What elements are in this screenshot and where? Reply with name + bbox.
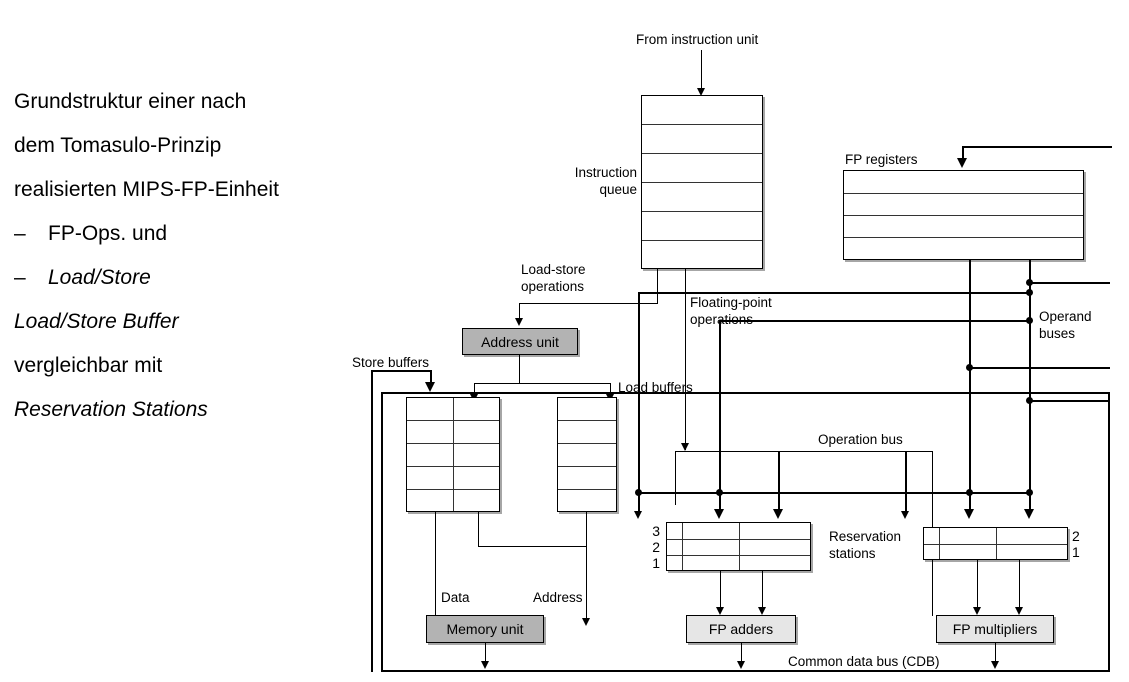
arrow-down-icon-fpmul-2 (1015, 607, 1023, 615)
arrow-down-icon-fpmultipliers-to-cdb (991, 661, 999, 669)
arrow-down-icon-fpadders-2 (758, 607, 766, 615)
arrow-down-icon-rs-mul-1 (901, 511, 909, 519)
wire-operand-right-1 (1029, 282, 1110, 284)
bullet-item-2-label: Load/Store (48, 266, 151, 289)
arrow-down-icon-fpadders-1 (716, 607, 724, 615)
from-instruction-unit-label: From instruction unit (636, 32, 758, 48)
fp-registers-box (843, 170, 1084, 260)
arrow-down-icon-rs-add-1 (634, 511, 642, 519)
arrow-down-icon-fpadders-to-cdb (737, 661, 745, 669)
slide-canvas: Grundstruktur einer nach dem Tomasulo-Pr… (0, 0, 1129, 682)
wire-instruction-unit-to-queue (701, 50, 702, 92)
reservation-stations-label-line2: stations (829, 546, 876, 562)
operand-buses-label-line2: buses (1039, 326, 1075, 342)
wire-rs-mul-in-1 (905, 451, 907, 515)
wire-rs-add-to-fpadders-1 (720, 571, 721, 611)
fp-registers-label: FP registers (845, 152, 918, 168)
address-unit-label: Address unit (481, 334, 559, 350)
text-line-3: realisierten MIPS-FP-Einheit (14, 168, 354, 212)
arrow-down-icon-store-buffer-data (425, 382, 435, 392)
text-line-2: dem Tomasulo-Prinzip (14, 124, 354, 168)
text-line-8: Reservation Stations (14, 388, 354, 432)
operand-bus-1 (638, 292, 1030, 294)
wire-rs-add-to-fpadders-2 (762, 571, 763, 611)
bullet-item-1-label: FP-Ops. und (48, 222, 167, 245)
operation-bus-label: Operation bus (818, 432, 903, 448)
rs-adder-number-3: 3 (640, 524, 660, 538)
common-data-bus-label: Common data bus (CDB) (784, 654, 944, 670)
instruction-queue-label-line1: Instruction (541, 165, 637, 181)
rs-multiplier-number-2: 2 (1072, 529, 1092, 543)
rs-adder-number-1: 1 (640, 556, 660, 570)
reservation-stations-label-line1: Reservation (829, 529, 901, 545)
operand-buses-label-line1: Operand (1039, 309, 1092, 325)
operand-bus-1-drop (638, 292, 640, 505)
wire-cdb-to-fp-registers-h (962, 146, 1112, 148)
rs-multiplier-number-1: 1 (1072, 545, 1092, 559)
wire-cdb-to-store-buffers-h (371, 370, 431, 372)
bullet-item-1: –FP-Ops. und (14, 212, 354, 256)
arrow-down-icon-fp-registers (957, 158, 967, 168)
wire-rs-mul-to-fpmul-2 (1019, 560, 1020, 611)
bullet-dash-icon-2: – (14, 256, 48, 300)
operand-bus-2 (719, 320, 1029, 322)
fp-adders-box: FP adders (686, 615, 796, 643)
slide-text-block: Grundstruktur einer nach dem Tomasulo-Pr… (14, 80, 354, 432)
junction-dot-2 (1026, 317, 1033, 324)
address-unit-box: Address unit (462, 328, 578, 355)
wire-rs-add-in-3 (778, 451, 780, 515)
wire-rs-mul-to-fpmul-1 (977, 560, 978, 611)
store-buffers-label: Store buffers (352, 355, 429, 371)
arrow-down-icon-fpmul-1 (973, 607, 981, 615)
arrow-down-icon-rs-add-3 (773, 509, 783, 519)
arrow-down-icon-address-unit (515, 318, 523, 326)
wire-queue-to-loadstore-v1 (657, 269, 658, 303)
fp-multipliers-label: FP multipliers (953, 621, 1038, 637)
wire-fpreg-drop-1 (969, 260, 971, 497)
instruction-queue-box (641, 95, 763, 269)
junction-dot-5 (1026, 397, 1033, 404)
operation-bus-left (675, 451, 676, 505)
text-line-1: Grundstruktur einer nach (14, 80, 354, 124)
fp-multipliers-box: FP multipliers (936, 615, 1054, 643)
text-line-7: vergleichbar mit (14, 344, 354, 388)
wire-addressunit-fanout-h (474, 383, 611, 384)
junction-dot-4 (966, 364, 973, 371)
arrow-down-icon-rs-mul-3 (1024, 509, 1034, 519)
arrow-down-icon-rs-add-2 (714, 509, 724, 519)
bullet-dash-icon: – (14, 212, 48, 256)
wire-addressunit-down (519, 355, 520, 383)
load-store-operations-label-line2: operations (521, 279, 584, 295)
floating-point-operations-label-line1: Floating-point (690, 295, 772, 311)
reservation-stations-multipliers-box (923, 527, 1068, 560)
junction-dot-3 (1026, 279, 1033, 286)
arrow-down-icon-rs-mul-2 (964, 509, 974, 519)
load-store-operations-label-line1: Load-store (521, 262, 586, 278)
rs-adder-number-2: 2 (640, 540, 660, 554)
operand-bus-2-drop (719, 320, 721, 505)
wire-operand-right-3 (1029, 400, 1110, 402)
fp-adders-label: FP adders (709, 621, 773, 637)
operation-bus-top (675, 451, 932, 452)
text-line-6: Load/Store Buffer (14, 300, 354, 344)
reservation-stations-adders-box (666, 522, 811, 571)
wire-operand-right-2 (969, 367, 1110, 369)
junction-dot (1026, 289, 1033, 296)
wire-cdb-to-store-buffers-v (371, 370, 373, 672)
bullet-item-2: –Load/Store (14, 256, 354, 300)
instruction-queue-label-line2: queue (541, 182, 637, 198)
